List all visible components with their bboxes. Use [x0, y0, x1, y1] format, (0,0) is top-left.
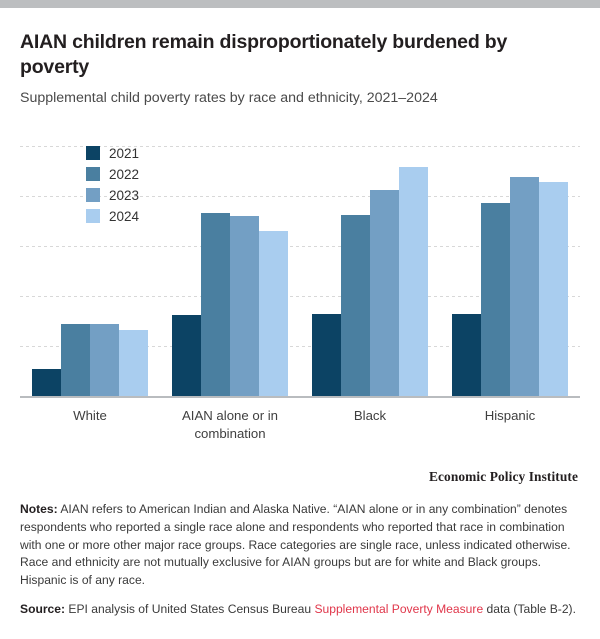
bar-group: [160, 130, 300, 396]
source-link[interactable]: Supplemental Poverty Measure: [314, 602, 483, 616]
bar-2022[interactable]: [341, 215, 370, 396]
page-title: AIAN children remain disproportionately …: [20, 30, 580, 79]
bar-2023[interactable]: [230, 216, 259, 396]
legend-label: 2023: [109, 188, 139, 203]
source-block: Source: EPI analysis of United States Ce…: [20, 601, 580, 619]
legend-item-2021[interactable]: 2021: [86, 143, 139, 164]
bar-2024[interactable]: [399, 167, 428, 396]
legend-item-2023[interactable]: 2023: [86, 185, 139, 206]
bar-2022[interactable]: [481, 203, 510, 396]
source-text-after: data (Table B-2).: [483, 602, 576, 616]
notes-block: Notes: AIAN refers to American Indian an…: [20, 501, 580, 590]
legend-label: 2021: [109, 146, 139, 161]
bar-2022[interactable]: [201, 213, 230, 396]
x-axis-label: Black: [300, 407, 440, 443]
bar-2021[interactable]: [312, 314, 341, 396]
attribution-epi: Economic Policy Institute: [20, 469, 580, 485]
bar-2022[interactable]: [61, 324, 90, 396]
legend-swatch-icon: [86, 167, 100, 181]
notes-label: Notes:: [20, 502, 58, 516]
x-axis-line: [20, 396, 580, 398]
bar-2021[interactable]: [172, 315, 201, 396]
bar-2024[interactable]: [539, 182, 568, 396]
bar-group: [440, 130, 580, 396]
legend-item-2022[interactable]: 2022: [86, 164, 139, 185]
bar-2024[interactable]: [259, 231, 288, 396]
legend: 2021202220232024: [86, 143, 139, 227]
bar-2023[interactable]: [510, 177, 539, 396]
x-axis-label: AIAN alone or in combination: [160, 407, 300, 443]
chart-content: AIAN children remain disproportionately …: [0, 8, 600, 619]
x-axis-labels: WhiteAIAN alone or in combinationBlackHi…: [20, 407, 580, 443]
bar-2023[interactable]: [90, 324, 119, 396]
bar-group: [300, 130, 440, 396]
bar-2023[interactable]: [370, 190, 399, 396]
legend-label: 2024: [109, 209, 139, 224]
chart-page: AIAN children remain disproportionately …: [0, 0, 600, 639]
bar-2021[interactable]: [452, 314, 481, 396]
page-subtitle: Supplemental child poverty rates by race…: [20, 89, 580, 107]
legend-swatch-icon: [86, 146, 100, 160]
x-axis-label: Hispanic: [440, 407, 580, 443]
legend-label: 2022: [109, 167, 139, 182]
source-text-before: EPI analysis of United States Census Bur…: [65, 602, 314, 616]
legend-swatch-icon: [86, 209, 100, 223]
source-label: Source:: [20, 602, 65, 616]
legend-item-2024[interactable]: 2024: [86, 206, 139, 227]
bar-2024[interactable]: [119, 330, 148, 396]
legend-swatch-icon: [86, 188, 100, 202]
x-axis-label: White: [20, 407, 160, 443]
notes-text: AIAN refers to American Indian and Alask…: [20, 502, 571, 587]
bar-2021[interactable]: [32, 369, 61, 396]
top-gray-band: [0, 0, 600, 8]
footnotes: Notes: AIAN refers to American Indian an…: [20, 501, 580, 619]
plot-area: 2021202220232024: [20, 130, 580, 398]
